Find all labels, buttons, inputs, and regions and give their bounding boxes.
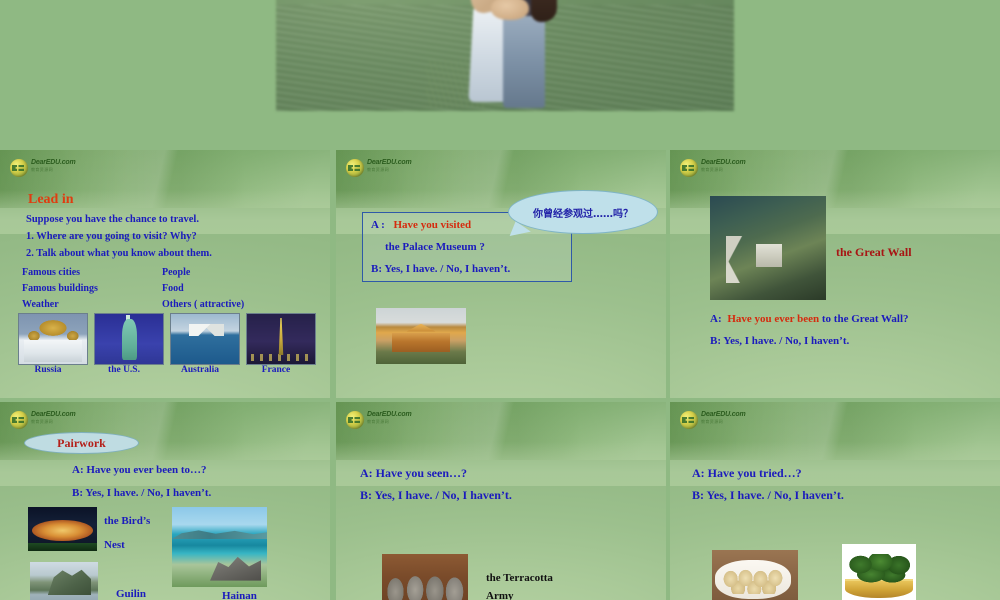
birds-nest-label-line2: Nest — [104, 539, 125, 551]
dialog-a-question-cont: the Palace Museum ? — [385, 241, 485, 253]
hero-banner — [0, 0, 1000, 148]
logo-sub-text: 教育资源网 — [367, 419, 411, 425]
caption-australia: Australia — [166, 365, 234, 375]
dearedu-logo: DearEDU.com 教育资源网 — [680, 410, 754, 430]
slide-lead-in[interactable]: DearEDU.com 教育资源网 Lead in Suppose you ha… — [0, 150, 330, 398]
great-wall-question: A: Have you ever been to the Great Wall? — [710, 313, 909, 325]
seen-question: A: Have you seen…? — [360, 466, 467, 481]
dialog-a-prefix: A : — [371, 219, 385, 231]
thumbnail-us — [94, 313, 164, 365]
guilin-photo — [30, 562, 98, 600]
slide-grid: DearEDU.com 教育资源网 Lead in Suppose you ha… — [0, 148, 1000, 600]
pairwork-answer: B: Yes, I have. / No, I haven’t. — [72, 487, 211, 499]
birds-nest-photo — [28, 507, 97, 551]
caption-france: France — [242, 365, 310, 375]
person-figure — [461, 0, 571, 107]
qa-a-blue: to the Great Wall? — [822, 313, 909, 325]
slide-palace-museum[interactable]: DearEDU.com 教育资源网 你曾经参观过……吗？ A : Have yo… — [336, 150, 666, 398]
logo-globe-icon — [680, 411, 698, 429]
terracotta-label-line2: Army — [486, 590, 514, 600]
logo-globe-icon — [346, 411, 364, 429]
tried-answer: B: Yes, I have. / No, I haven’t. — [692, 488, 844, 503]
dialog-line-a: A : Have you visited — [371, 219, 471, 231]
thumbnail-france — [246, 313, 316, 365]
logo-globe-icon — [10, 159, 28, 177]
qa-a-prefix: A: — [710, 313, 722, 325]
thumbnail-australia — [170, 313, 240, 365]
hainan-label: Hainan — [222, 590, 257, 600]
logo-globe-icon — [346, 159, 364, 177]
slide-pairwork[interactable]: DearEDU.com 教育资源网 Pairwork A: Have you e… — [0, 402, 330, 600]
logo-sub-text: 教育资源网 — [367, 167, 411, 173]
terracotta-label-line1: the Terracotta — [486, 572, 553, 584]
logo-sub-text: 教育资源网 — [701, 419, 745, 425]
speech-bubble-text: 你曾经参观过……吗？ — [509, 191, 657, 233]
dearedu-logo: DearEDU.com 教育资源网 — [10, 410, 84, 430]
blurred-photo-person-in-water — [276, 0, 734, 111]
logo-sub-text: 教育资源网 — [31, 167, 75, 173]
slide-great-wall[interactable]: DearEDU.com 教育资源网 the Great Wall A: Have… — [670, 150, 1000, 398]
pairwork-badge-label: Pairwork — [25, 433, 138, 453]
zongzi-basket-photo — [842, 544, 916, 600]
slide-have-you-tried[interactable]: DearEDU.com 教育资源网 A: Have you tried…? B:… — [670, 402, 1000, 600]
lead-in-line-2: 1. Where are you going to visit? Why? — [26, 231, 197, 242]
great-wall-photo — [710, 196, 826, 300]
topic-people: People — [162, 267, 190, 278]
lead-in-line-3: 2. Talk about what you know about them. — [26, 248, 212, 259]
dearedu-logo: DearEDU.com 教育资源网 — [346, 158, 420, 178]
dialog-b-answer: B: Yes, I have. / No, I haven’t. — [371, 263, 510, 275]
hands — [491, 0, 529, 20]
logo-sub-text: 教育资源网 — [31, 419, 75, 425]
topic-famous-cities: Famous cities — [22, 267, 80, 278]
hainan-photo — [172, 507, 267, 587]
seen-answer: B: Yes, I have. / No, I haven’t. — [360, 488, 512, 503]
guilin-label: Guilin — [116, 588, 146, 600]
lead-in-line-1: Suppose you have the chance to travel. — [26, 214, 199, 225]
slide-thumbnail-page: DearEDU.com 教育资源网 Lead in Suppose you ha… — [0, 0, 1000, 600]
logo-globe-icon — [10, 411, 28, 429]
hair — [531, 0, 557, 22]
logo-globe-icon — [680, 159, 698, 177]
pairwork-badge: Pairwork — [24, 432, 139, 454]
topic-others: Others ( attractive) — [162, 299, 244, 310]
logo-main-text: DearEDU.com — [31, 410, 75, 419]
logo-main-text: DearEDU.com — [31, 158, 75, 167]
lead-in-title: Lead in — [28, 192, 74, 208]
dialog-a-question: Have you visited — [394, 219, 472, 231]
jeans — [503, 8, 545, 108]
logo-main-text: DearEDU.com — [367, 410, 411, 419]
dearedu-logo: DearEDU.com 教育资源网 — [10, 158, 84, 178]
tried-question: A: Have you tried…? — [692, 466, 802, 481]
topic-weather: Weather — [22, 299, 59, 310]
dumplings-photo — [712, 550, 798, 600]
dearedu-logo: DearEDU.com 教育资源网 — [346, 410, 420, 430]
dearedu-logo: DearEDU.com 教育资源网 — [680, 158, 754, 178]
caption-russia: Russia — [14, 365, 82, 375]
logo-main-text: DearEDU.com — [367, 158, 411, 167]
caption-us: the U.S. — [90, 365, 158, 375]
qa-a-red: Have you ever been — [727, 313, 819, 325]
terracotta-army-photo — [382, 554, 468, 600]
logo-main-text: DearEDU.com — [701, 410, 745, 419]
topic-famous-buildings: Famous buildings — [22, 283, 98, 294]
great-wall-answer: B: Yes, I have. / No, I haven’t. — [710, 335, 849, 347]
country-thumbnail-row — [18, 313, 318, 363]
logo-sub-text: 教育资源网 — [701, 167, 745, 173]
speech-bubble: 你曾经参观过……吗？ — [508, 190, 658, 234]
birds-nest-label-line1: the Bird’s — [104, 515, 150, 527]
palace-museum-photo — [376, 308, 466, 364]
topic-food: Food — [162, 283, 184, 294]
great-wall-label: the Great Wall — [836, 245, 912, 260]
slide-have-you-seen[interactable]: DearEDU.com 教育资源网 A: Have you seen…? B: … — [336, 402, 666, 600]
thumbnail-russia — [18, 313, 88, 365]
logo-main-text: DearEDU.com — [701, 158, 745, 167]
pairwork-question: A: Have you ever been to…? — [72, 464, 207, 476]
